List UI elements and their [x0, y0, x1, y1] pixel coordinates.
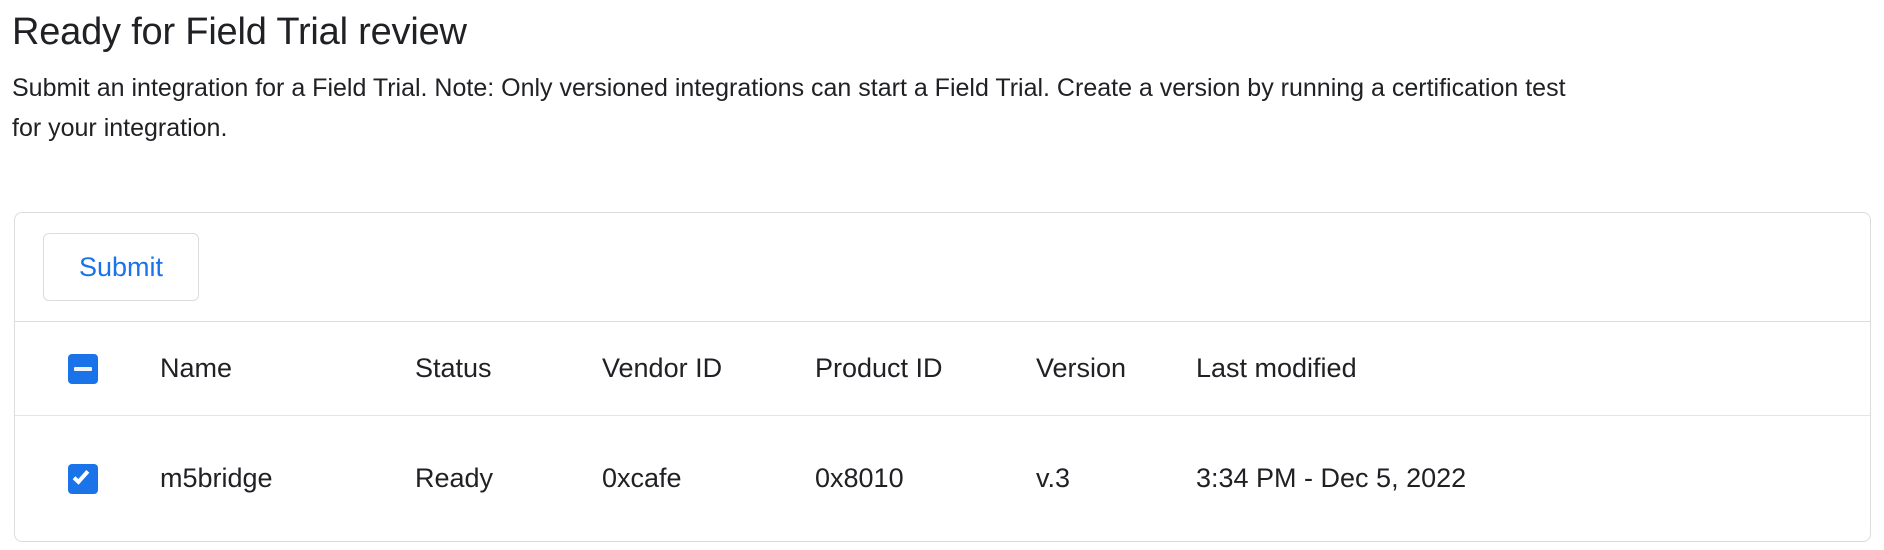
column-header-last-modified[interactable]: Last modified: [1196, 322, 1696, 415]
table-row[interactable]: m5bridge Ready 0xcafe 0x8010 v.3 3:34 PM…: [15, 416, 1870, 542]
table-toolbar: Submit: [15, 213, 1870, 322]
column-header-product-id[interactable]: Product ID: [815, 322, 1035, 415]
page-root: Ready for Field Trial review Submit an i…: [0, 0, 1884, 550]
cell-last-modified: 3:34 PM - Dec 5, 2022: [1196, 416, 1696, 541]
page-title: Ready for Field Trial review: [12, 8, 467, 56]
column-header-name[interactable]: Name: [160, 322, 410, 415]
page-description: Submit an integration for a Field Trial.…: [12, 68, 1572, 148]
column-header-status[interactable]: Status: [415, 322, 605, 415]
cell-status: Ready: [415, 416, 605, 541]
row-checkbox-icon[interactable]: [68, 464, 98, 494]
table-header-row: Name Status Vendor ID Product ID Version…: [15, 322, 1870, 416]
column-header-version[interactable]: Version: [1036, 322, 1196, 415]
select-all-checkbox-icon[interactable]: [68, 354, 98, 384]
cell-version: v.3: [1036, 416, 1196, 541]
row-select-cell: [68, 416, 158, 541]
cell-name: m5bridge: [160, 416, 410, 541]
integrations-card: Submit Name Status Vendor ID Product ID …: [14, 212, 1871, 542]
select-all-cell: [68, 322, 158, 415]
column-header-vendor-id[interactable]: Vendor ID: [602, 322, 812, 415]
integrations-table: Name Status Vendor ID Product ID Version…: [15, 322, 1870, 542]
cell-product-id: 0x8010: [815, 416, 1035, 541]
submit-button[interactable]: Submit: [43, 233, 199, 301]
cell-vendor-id: 0xcafe: [602, 416, 812, 541]
